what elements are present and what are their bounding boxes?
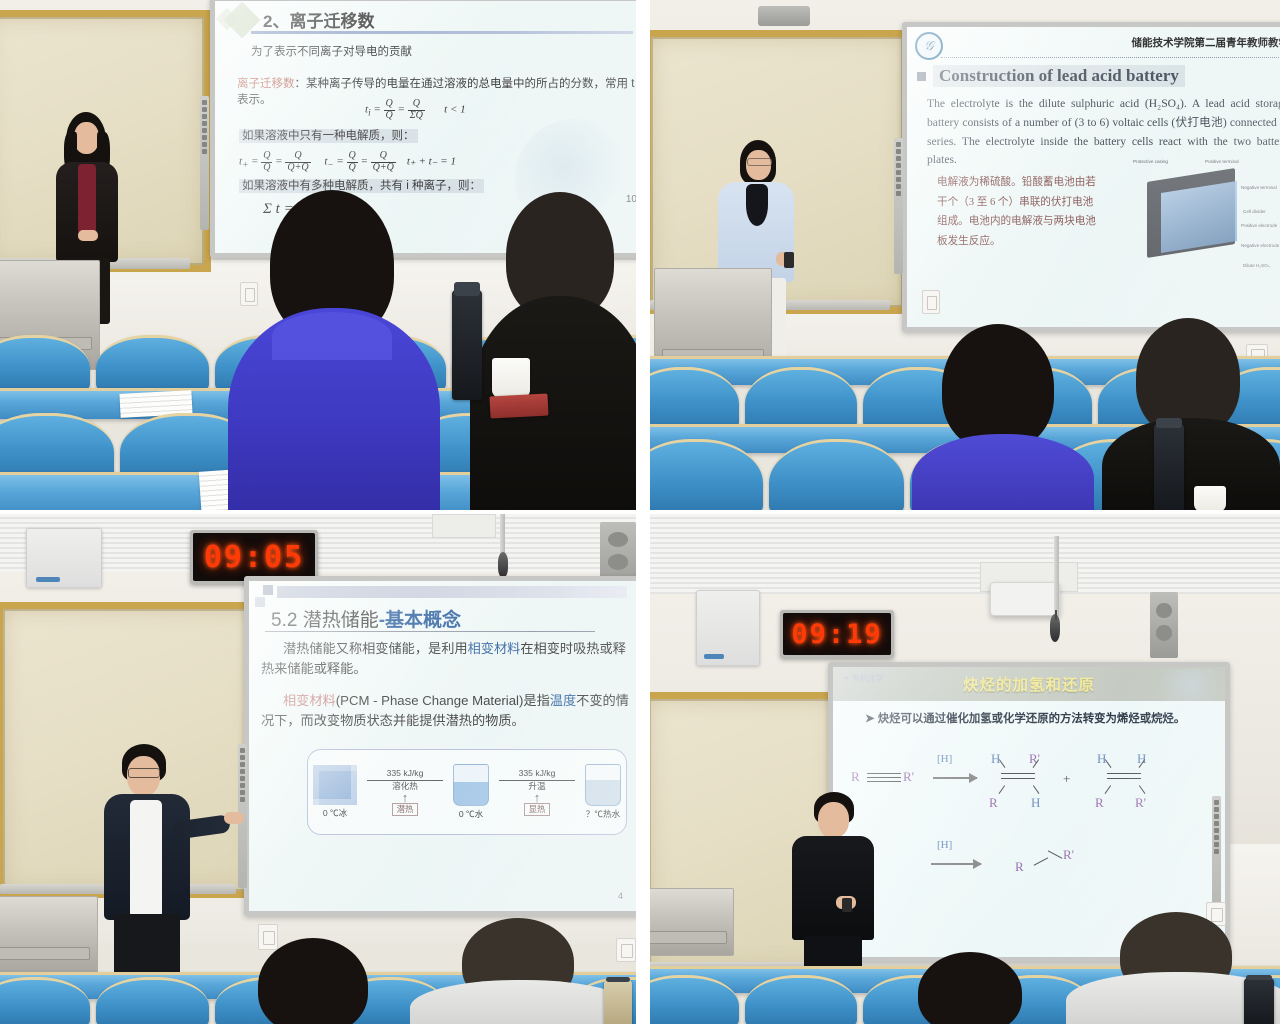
toolbar-icon-shape[interactable] [240, 769, 245, 774]
audience-member-dark-suit [1102, 318, 1280, 510]
panel-top-right: 𝒢 储能技术学院第二届青年教师教学 Construction of lead a… [650, 0, 1280, 510]
toolbar-icon-shape[interactable] [896, 163, 901, 168]
rx1-reactant-rp: R' [903, 769, 914, 785]
toolbar-icon-eraser[interactable] [202, 107, 207, 112]
slide-decor-image [1147, 669, 1217, 701]
slide-header-divider [941, 57, 1280, 58]
presenter-male-1 [104, 744, 224, 994]
audience-member-dark-suit [470, 192, 636, 510]
rx1-reactant-r: R [851, 769, 860, 785]
diagram-stage-ice: 0 ℃冰 [313, 765, 357, 819]
eq1-right-den: ΣQ [408, 111, 425, 122]
phase-change-diagram: 0 ℃冰 335 kJ/kg 溶化热 ↑ 潜热 [307, 749, 627, 835]
toolbar-icon-undo[interactable] [240, 776, 245, 781]
rx1-p1-r-bot: R [989, 795, 998, 811]
speaker-logo [36, 577, 60, 582]
projector-pole [1054, 536, 1059, 616]
slide-hl-pcm: 相变材料 [468, 641, 521, 656]
toolbar-icon-page[interactable] [240, 790, 245, 795]
toolbar-icon-eraser[interactable] [240, 755, 245, 760]
toolbar-icon-eraser[interactable] [1214, 807, 1219, 812]
slide-paragraph-2: 相变材料(PCM - Phase Change Material)是指温度不变的… [261, 691, 631, 731]
rx1-p2-rp-bot-r: R' [1135, 795, 1146, 811]
lectern [0, 896, 98, 974]
presenter-glasses-icon [747, 158, 772, 166]
slide-title-sub: -基本概念 [379, 610, 461, 631]
slide-latent-heat-storage: 5.2 潜热储能-基本概念 潜热储能又称相变储能，是利用相变材料在相变时吸热或释… [249, 581, 636, 911]
toolbar-icon-save[interactable] [896, 177, 901, 182]
clock-face: 09:19 [783, 613, 891, 655]
lectern [650, 888, 734, 956]
slide-term-pcm: 相变材料 [283, 693, 336, 708]
toolbar-icon-select[interactable] [1214, 814, 1219, 819]
slide-title-underline [265, 631, 595, 632]
slide-header-title: 储能技术学院第二届青年教师教学 [1132, 35, 1280, 50]
audience-hair [258, 938, 368, 1024]
toolbar-icon-pen[interactable] [202, 100, 207, 105]
arrow1-box: 潜热 [392, 803, 419, 816]
toolbar-icon-undo[interactable] [1214, 828, 1219, 833]
eq1-left-num: Q [384, 99, 395, 111]
slide-line-3: 如果溶液中只有一种电解质，则： [239, 129, 418, 145]
ceiling-panel [650, 514, 1280, 599]
audience-member-dark-hair [908, 952, 1038, 1024]
toolbar-icon-shape[interactable] [1214, 821, 1219, 826]
presenter-bow-tie [746, 184, 768, 226]
battery-label-positive-electrode: Positive electrode [1241, 223, 1277, 228]
chair[interactable] [0, 413, 114, 478]
presenter-hand [224, 812, 244, 824]
slide-term-label: 离子迁移数 [237, 78, 295, 90]
battery-cells [1161, 181, 1237, 253]
toolbar-icon-eraser[interactable] [896, 149, 901, 154]
water-glass-image [453, 764, 489, 806]
presenter-face [74, 122, 99, 154]
slide-page-number: 4 [618, 891, 623, 901]
led-wall-clock: 09:19 [780, 610, 894, 658]
projection-screen-frame: 𝒢 储能技术学院第二届青年教师教学 Construction of lead a… [902, 22, 1280, 332]
toolbar-icon-pen[interactable] [896, 142, 901, 147]
slide-paragraph-1: 潜热储能又称相变储能，是利用相变材料在相变时吸热或释热来储能或释能。 [261, 639, 631, 679]
diagram-arrow-melting: 335 kJ/kg 溶化热 ↑ 潜热 [367, 768, 443, 816]
projector-mount-plate [432, 514, 496, 538]
whiteboard-toolbar-rail[interactable] [894, 138, 903, 274]
arrow-up-icon: ↑ [499, 792, 575, 804]
clock-face: 09:05 [193, 533, 315, 581]
slide-decor-chip-2 [255, 597, 265, 607]
rx1-plus: + [1063, 771, 1070, 787]
speaker-cone [608, 532, 628, 547]
battery-label-negative-electrode: Negative electrode [1241, 243, 1279, 248]
chair[interactable] [650, 439, 763, 510]
chair[interactable] [769, 439, 904, 510]
arrow-up-icon: ↑ [367, 792, 443, 804]
battery-label-dilute-acid: Dilute H₂SO₄ [1243, 263, 1270, 268]
audience-shirt [410, 980, 632, 1024]
diagram-caption-hot-water: ？℃热水 [585, 808, 621, 820]
toolbar-icon-select[interactable] [202, 114, 207, 119]
panel-bottom-right: 09:19 ✦ 有机化学 炔烃的加氢和还原 ➤ 炔烃可以通过催化加氢或化学还原的… [650, 514, 1280, 1024]
ceiling-speaker [758, 6, 810, 26]
presenter-clicker [784, 252, 794, 268]
toolbar-icon-more[interactable] [240, 797, 245, 802]
projector-pole [500, 514, 505, 554]
rx1-p1-h-bot: H [1031, 795, 1040, 811]
toolbar-icon-page[interactable] [896, 184, 901, 189]
audience-suit [1102, 418, 1280, 510]
red-notebook [489, 393, 548, 418]
arrow1-value: 335 kJ/kg [367, 768, 443, 781]
eq1-left-den: Q [384, 111, 395, 122]
toolbar-icon-save[interactable] [202, 135, 207, 140]
slide-chinese-note: 电解液为稀硫酸。铅酸蓄电池由若干个（3 至 6 个）串联的伏打电池组成。电池内的… [937, 173, 1097, 251]
presenter-tshirt [130, 800, 162, 918]
battery-label-cell-divider: Cell divider [1243, 209, 1266, 214]
toolbar-icon-more[interactable] [1214, 849, 1219, 854]
wall-speaker-right [1150, 592, 1178, 658]
water-bottle [1154, 424, 1184, 510]
wall-outlet [922, 290, 940, 314]
wall-speaker-left [26, 528, 102, 588]
clock-time: 09:05 [204, 540, 304, 575]
audience-member-dark-hair [244, 938, 384, 1024]
rx1-arrow-icon [933, 777, 977, 779]
battery-label-protective-casing: Protective casing [1133, 159, 1168, 164]
toolbar-icon-pen[interactable] [240, 748, 245, 753]
ceiling-projector [990, 582, 1060, 616]
presenter-shirt [78, 164, 96, 234]
diagram-caption-water: 0 ℃水 [453, 808, 489, 820]
slide-line-1: 为了表示不同离子对导电的贡献 [251, 45, 412, 61]
slide-bullet-square-icon [917, 72, 926, 81]
chair[interactable] [0, 335, 90, 390]
paper-cup [492, 358, 530, 398]
chair[interactable] [745, 975, 857, 1024]
audience-hair [918, 952, 1022, 1024]
audience-member-blue-coat [228, 190, 440, 510]
slide-title: 5.2 潜热储能-基本概念 [271, 605, 461, 632]
audience-hood [272, 312, 392, 360]
photo-grid: 2、离子迁移数 为了表示不同离子对导电的贡献 离子迁移数：某种离子传导的电量在通… [0, 0, 1280, 1024]
slide-heading: Construction of lead acid battery [933, 65, 1185, 87]
audience-hair [942, 324, 1054, 450]
toolbar-icon-page[interactable] [1214, 842, 1219, 847]
wall-speaker-left [696, 590, 760, 666]
water-bottle [1244, 978, 1274, 1024]
slide-bullet-text: ➤ 炔烃可以通过催化加氢或化学还原的方法转变为烯烃或烷烃。 [865, 711, 1197, 728]
speaker-logo [704, 654, 724, 659]
toolbar-icon-shape[interactable] [202, 121, 207, 126]
rx1-reagent: [H] [937, 753, 952, 765]
chair[interactable] [96, 977, 209, 1024]
paper-cup [1194, 486, 1226, 510]
rx2-product-r: R [1015, 859, 1024, 875]
diagram-stage-hot-water: ？℃热水 [585, 764, 621, 820]
eq1-condition: t < 1 [444, 104, 465, 116]
diagram-caption-ice: 0 ℃冰 [313, 807, 357, 819]
presenter-coat [792, 836, 874, 940]
toolbar-icon-select[interactable] [896, 156, 901, 161]
rx2-reagent: [H] [937, 839, 952, 851]
chair[interactable] [745, 367, 857, 428]
diagram-arrow-heating: 335 kJ/kg 升温 ↑ 显热 [499, 768, 575, 816]
toolbar-icon-undo[interactable] [202, 128, 207, 133]
lectern-drawer [650, 931, 727, 944]
toolbar-icon-undo[interactable] [896, 170, 901, 175]
projection-screen: 𝒢 储能技术学院第二届青年教师教学 Construction of lead a… [907, 27, 1280, 327]
microphone-wire [1055, 610, 1057, 620]
arrow2-value: 335 kJ/kg [499, 768, 575, 781]
eq2-sum: t₊ + t₋ = 1 [407, 156, 456, 168]
speaker-cone [1156, 603, 1172, 619]
slide-lead-acid-battery: 𝒢 储能技术学院第二届青年教师教学 Construction of lead a… [907, 27, 1280, 327]
toolbar-icon-select[interactable] [240, 762, 245, 767]
slide-equation-2: t+ = QQ = QQ+Q t− = QQ = QQ+Q t₊ + t₋ = … [239, 151, 456, 173]
toolbar-icon-save[interactable] [1214, 835, 1219, 840]
audience-member-blue-coat [912, 324, 1094, 510]
panel-bottom-left: 09:05 5.2 潜热储能-基本概念 潜热储能 [0, 514, 636, 1024]
slide-title-number: 5.2 [271, 610, 303, 631]
rx2-product-rp: R' [1063, 847, 1074, 863]
battery-label-negative-terminal: Negative terminal [1241, 185, 1277, 190]
speaker-cone [608, 554, 628, 569]
presenter-clicker [842, 898, 852, 912]
battery-label-positive-terminal: Positive terminal [1205, 159, 1239, 164]
slide-title-bar [277, 586, 627, 598]
clock-time: 09:19 [791, 619, 882, 650]
ice-cubes-image [313, 765, 357, 805]
water-bottle [452, 290, 482, 400]
reaction-scheme-1: R R' [H] H R' [851, 751, 1215, 831]
water-bottle [604, 980, 632, 1024]
slide-title: 2、离子迁移数 [263, 7, 374, 32]
speaker-cone [1156, 625, 1172, 641]
ceiling-microphone [498, 552, 508, 578]
rx2-arrow-icon [931, 863, 981, 865]
projection-screen: 5.2 潜热储能-基本概念 潜热储能又称相变储能，是利用相变材料在相变时吸热或释… [249, 581, 636, 911]
audience-jacket [912, 434, 1094, 510]
slide-title: 炔烃的加氢和还原 [963, 673, 1095, 695]
toolbar-icon-pen[interactable] [1214, 800, 1219, 805]
hot-water-glass-image [585, 764, 621, 806]
slide-title-main: 潜热储能 [303, 610, 379, 631]
toolbar-icon-page[interactable] [202, 142, 207, 147]
audience-member-white-shirt [410, 918, 632, 1024]
presenter-glasses-icon [128, 768, 160, 778]
whiteboard-toolbar-rail[interactable] [200, 96, 209, 230]
institute-logo-icon: 𝒢 [915, 32, 943, 60]
arrow2-box: 显热 [524, 803, 551, 816]
chair[interactable] [650, 367, 739, 428]
slide-decor-chip [263, 585, 273, 595]
presenter-male-2 [792, 792, 882, 982]
eq1-right-num: Q [408, 99, 425, 111]
slide-title-rule [251, 31, 633, 34]
lectern-drawer [0, 947, 90, 960]
presenter-hands [78, 230, 98, 241]
course-logo-icon: ✦ 有机化学 [843, 673, 884, 684]
reaction-scheme-2: [H] R R' [851, 843, 1215, 893]
rx1-p2-r-bot-l: R [1095, 795, 1104, 811]
toolbar-icon-more[interactable] [202, 149, 207, 154]
presenter-face [818, 802, 849, 838]
diagram-stage-water: 0 ℃水 [453, 764, 489, 820]
toolbar-icon-more[interactable] [896, 191, 901, 196]
slide-equation-1: ti = QQ = QΣQ t < 1 [365, 99, 466, 121]
chair[interactable] [0, 977, 90, 1024]
panel-top-left: 2、离子迁移数 为了表示不同离子对导电的贡献 离子迁移数：某种离子传导的电量在通… [0, 0, 636, 510]
projection-screen-frame: 5.2 潜热储能-基本概念 潜热储能又称相变储能，是利用相变材料在相变时吸热或释… [244, 576, 636, 916]
chair[interactable] [650, 975, 739, 1024]
slide-title-band: ✦ 有机化学 炔烃的加氢和还原 [833, 667, 1225, 701]
battery-diagram: Protective casing Positive terminal Nega… [1131, 157, 1280, 277]
chair[interactable] [96, 335, 209, 390]
toolbar-icon-save[interactable] [240, 783, 245, 788]
